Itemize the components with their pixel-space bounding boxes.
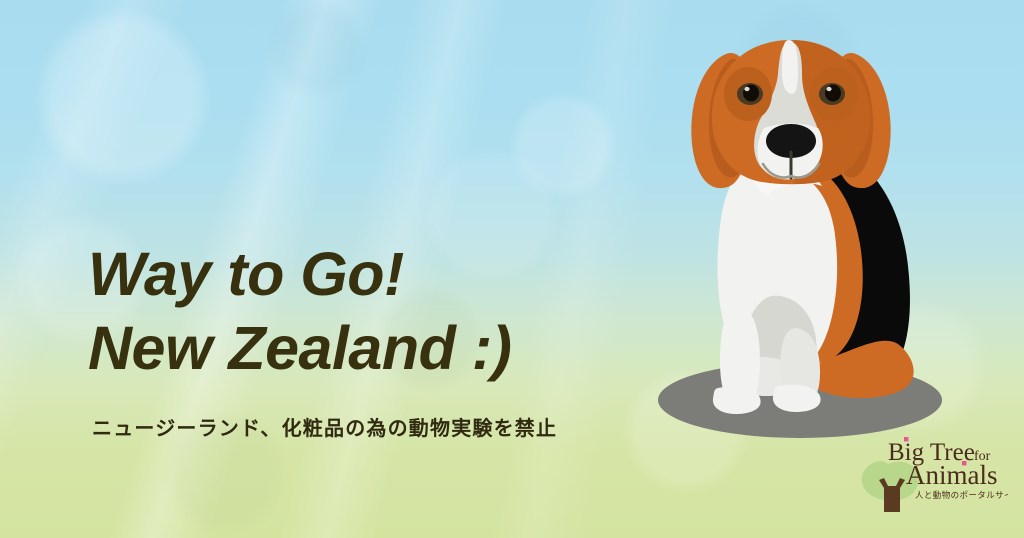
dog-pupil-left bbox=[743, 85, 759, 102]
page-title: Way to Go! New Zealand :) bbox=[88, 238, 648, 386]
dog-blaze-top-highlight bbox=[782, 40, 798, 94]
dog-eye-highlight-left bbox=[744, 87, 749, 91]
logo-dot-2 bbox=[962, 461, 966, 465]
copy-block: Way to Go! New Zealand :) ニュージーランド、化粧品の為… bbox=[88, 238, 648, 441]
dog-pupil-right bbox=[825, 85, 841, 102]
brand-logo[interactable]: Big Tree for Animals 人と動物のポータルサイト bbox=[858, 428, 1008, 532]
logo-tagline: 人と動物のポータルサイト bbox=[915, 490, 1008, 501]
logo-line2: Animals bbox=[906, 460, 998, 490]
beagle-dog-illustration bbox=[630, 28, 970, 448]
dog-eye-highlight-right bbox=[826, 87, 831, 91]
subtitle: ニュージーランド、化粧品の為の動物実験を禁止 bbox=[92, 412, 648, 441]
logo-dot-1 bbox=[904, 437, 908, 441]
campaign-banner: Way to Go! New Zealand :) ニュージーランド、化粧品の為… bbox=[0, 0, 1024, 538]
